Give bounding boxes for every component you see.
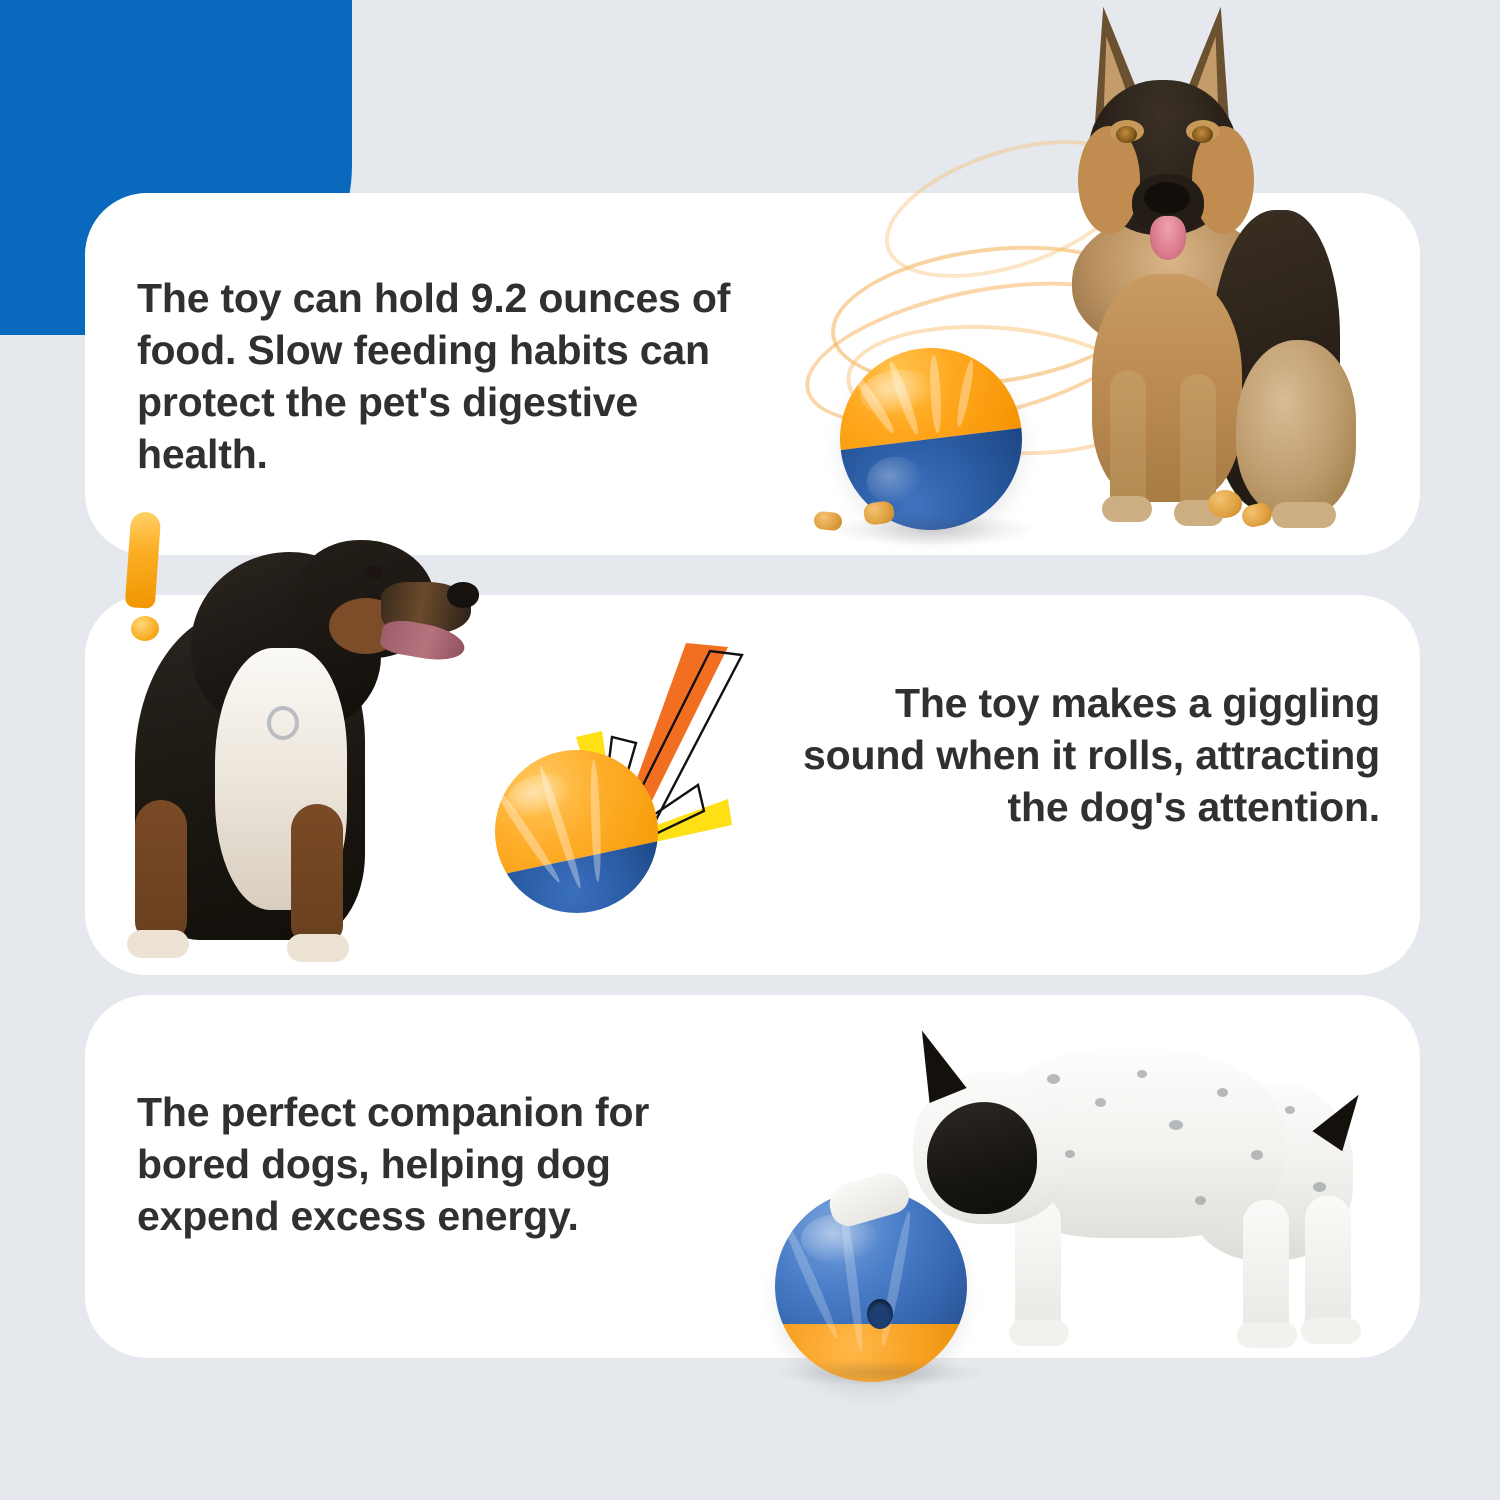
dog-ear-left xyxy=(1078,3,1147,122)
ball-shadow xyxy=(775,1360,985,1386)
dog-ear-right xyxy=(1178,3,1247,122)
feature-text-energy: The perfect companion for bored dogs, he… xyxy=(137,1086,717,1242)
dog-ear-inner-right xyxy=(1191,34,1230,109)
dog-ear-inner-left xyxy=(1093,34,1132,109)
product-infographic-poster: The toy can hold 9.2 ounces of food. Slo… xyxy=(0,0,1500,1500)
dog-brow-right xyxy=(1186,120,1220,142)
dog-eye xyxy=(367,566,383,579)
dog-brow-left xyxy=(1110,120,1144,142)
dog-eye-right xyxy=(1192,126,1213,143)
dog-eye-left xyxy=(1116,126,1137,143)
exclamation-mark-dot xyxy=(131,616,159,641)
feature-text-capacity: The toy can hold 9.2 ounces of food. Slo… xyxy=(137,272,757,480)
feature-text-sound: The toy makes a giggling sound when it r… xyxy=(775,677,1380,833)
